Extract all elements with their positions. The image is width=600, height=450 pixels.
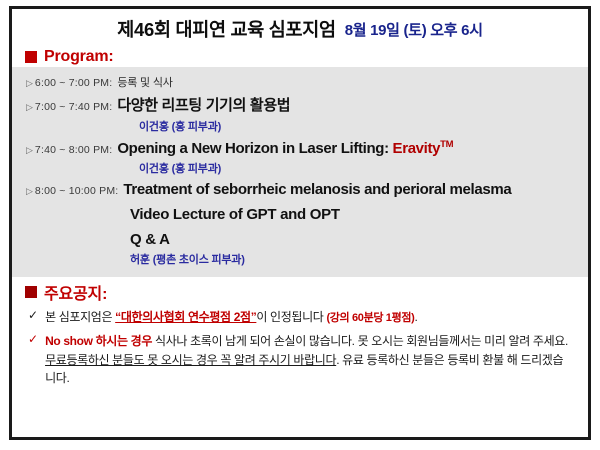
- program-speaker: 이건홍 (홍 피부과): [12, 117, 588, 137]
- red-square-icon: [25, 286, 37, 298]
- triangle-bullet-icon: ▷: [26, 79, 33, 88]
- program-topic: Treatment of seborrheic melanosis and pe…: [123, 181, 511, 198]
- notices-heading-label: 주요공지:: [44, 280, 107, 304]
- event-date: 8월 19일 (토) 오후 6시: [345, 19, 483, 40]
- page-title: 제46회 대피연 교육 심포지엄: [117, 16, 335, 42]
- notice-segment: 이 인정됩니다: [256, 310, 326, 324]
- title-band: 제46회 대피연 교육 심포지엄 8월 19일 (토) 오후 6시: [12, 9, 588, 47]
- program-topic: 등록 및 식사: [117, 74, 172, 90]
- slide-frame: 제46회 대피연 교육 심포지엄 8월 19일 (토) 오후 6시 Progra…: [9, 6, 591, 440]
- check-icon: ✓: [28, 332, 38, 347]
- program-heading-label: Program:: [44, 48, 114, 66]
- triangle-bullet-icon: ▷: [26, 103, 33, 112]
- program-topic: 다양한 리프팅 기기의 활용법: [117, 94, 290, 115]
- notice-item: ✓ No show 하시는 경우 식사나 초록이 남게 되어 손실이 많습니다.…: [12, 329, 588, 390]
- program-heading: Program:: [12, 47, 588, 67]
- notice-segment-underline: 무료등록하신 분들도 못 오시는 경우 꼭 알려 주시기 바랍니다: [45, 353, 336, 367]
- notice-text: 본 심포지엄은 “대한의사협회 연수평점 2점”이 인정됩니다 (강의 60분당…: [45, 308, 417, 327]
- notice-segment: 식사나 초록이 남게 되어 손실이 많습니다. 못 오시는 회원님들께서는 미리…: [152, 334, 568, 348]
- triangle-bullet-icon: ▷: [26, 187, 33, 196]
- program-row: ▷ 8:00 ~ 10:00 PM: Treatment of seborrhe…: [12, 179, 588, 200]
- program-time: 7:40 ~ 8:00 PM:: [35, 144, 112, 156]
- triangle-bullet-icon: ▷: [26, 146, 33, 155]
- trademark-superscript: TM: [440, 139, 453, 150]
- red-square-icon: [25, 51, 37, 63]
- notice-segment-note: (강의 60분당 1평점): [326, 312, 414, 324]
- notice-segment-highlight: No show 하시는 경우: [45, 334, 152, 348]
- notices-heading: 주요공지:: [12, 279, 588, 305]
- product-name: Eravity: [393, 140, 441, 157]
- notice-item: ✓ 본 심포지엄은 “대한의사협회 연수평점 2점”이 인정됩니다 (강의 60…: [12, 305, 588, 329]
- check-icon: ✓: [28, 308, 38, 323]
- program-topic-text: Opening a New Horizon in Laser Lifting:: [117, 140, 392, 157]
- program-time: 6:00 ~ 7:00 PM:: [35, 77, 112, 89]
- notice-segment: 본 심포지엄은: [45, 310, 115, 324]
- program-row: ▷ 7:40 ~ 8:00 PM: Opening a New Horizon …: [12, 137, 588, 159]
- notice-text: No show 하시는 경우 식사나 초록이 남게 되어 손실이 많습니다. 못…: [45, 332, 572, 388]
- program-subtopic: Q & A: [12, 225, 588, 250]
- program-speaker: 허훈 (평촌 초이스 피부과): [12, 250, 588, 270]
- program-subtopic: Video Lecture of GPT and OPT: [12, 200, 588, 225]
- symposium-announcement-slide: 제46회 대피연 교육 심포지엄 8월 19일 (토) 오후 6시 Progra…: [0, 0, 600, 450]
- program-time: 7:00 ~ 7:40 PM:: [35, 101, 112, 113]
- notices-section: 주요공지: ✓ 본 심포지엄은 “대한의사협회 연수평점 2점”이 인정됩니다 …: [12, 277, 588, 390]
- notice-segment-highlight: “대한의사협회 연수평점 2점”: [115, 310, 256, 324]
- program-topic: Opening a New Horizon in Laser Lifting: …: [117, 139, 453, 157]
- program-row: ▷ 6:00 ~ 7:00 PM: 등록 및 식사: [12, 72, 588, 92]
- program-list: ▷ 6:00 ~ 7:00 PM: 등록 및 식사 ▷ 7:00 ~ 7:40 …: [12, 67, 588, 277]
- program-time: 8:00 ~ 10:00 PM:: [35, 185, 118, 197]
- program-row: ▷ 7:00 ~ 7:40 PM: 다양한 리프팅 기기의 활용법: [12, 92, 588, 117]
- notice-segment: .: [414, 310, 417, 324]
- program-speaker: 이건홍 (홍 피부과): [12, 159, 588, 179]
